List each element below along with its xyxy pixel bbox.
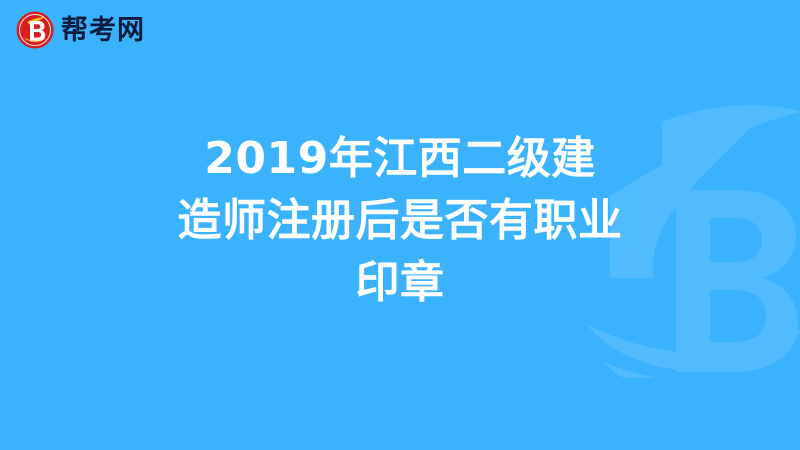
page-title-line-3: 印章 xyxy=(150,252,650,314)
page-title: 2019年江西二级建 造师注册后是否有职业 印章 xyxy=(0,128,800,314)
page-title-line-1: 2019年江西二级建 xyxy=(150,128,650,190)
site-logo[interactable]: 帮考网 xyxy=(16,11,145,49)
site-logo-text: 帮考网 xyxy=(61,17,145,44)
slide-canvas: 帮考网 2019年江西二级建 造师注册后是否有职业 印章 xyxy=(0,0,800,450)
page-title-line-2: 造师注册后是否有职业 xyxy=(150,190,650,252)
bangkao-b-logo-icon xyxy=(16,11,54,49)
